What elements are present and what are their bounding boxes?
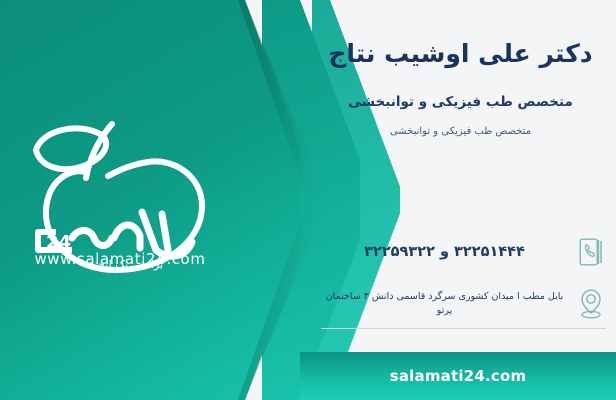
business-card: 24 براحتی یک لبخند www.salamati24.com دک… [0,0,616,400]
card-content: دکتر علی اوشیب نتاج متخصص طب فیزیکی و تو… [305,0,616,352]
footer-bar[interactable]: salamati24.com [300,352,616,400]
footer-website: salamati24.com [390,367,527,385]
contact-row-address[interactable]: بابل مطب ا میدان کشوری سرگرد قاسمی دانش … [313,284,608,324]
contact-row-phone[interactable]: ۳۲۲۵۱۴۴۴ و ۳۲۲۵۹۳۲۲ [313,232,608,272]
phone-number: ۳۲۲۵۱۴۴۴ و ۳۲۲۵۹۳۲۲ [313,244,574,260]
logo-website-url: www.salamati24.com [10,250,230,268]
doctor-specialty-secondary: متخصص طب فیزیکی و توانبخشی [305,111,616,139]
clinic-address: بابل مطب ا میدان کشوری سرگرد قاسمی دانش … [313,290,574,319]
doctor-name: دکتر علی اوشیب نتاج [305,0,616,71]
phone-book-icon [574,232,608,272]
contact-list: ۳۲۲۵۱۴۴۴ و ۳۲۲۵۹۳۲۲ بابل مطب ا میدان کشو… [313,232,608,336]
map-pin-icon [574,284,608,324]
doctor-specialty: متخصص طب فیزیکی و توانبخشی [305,71,616,112]
content-divider [321,328,606,329]
